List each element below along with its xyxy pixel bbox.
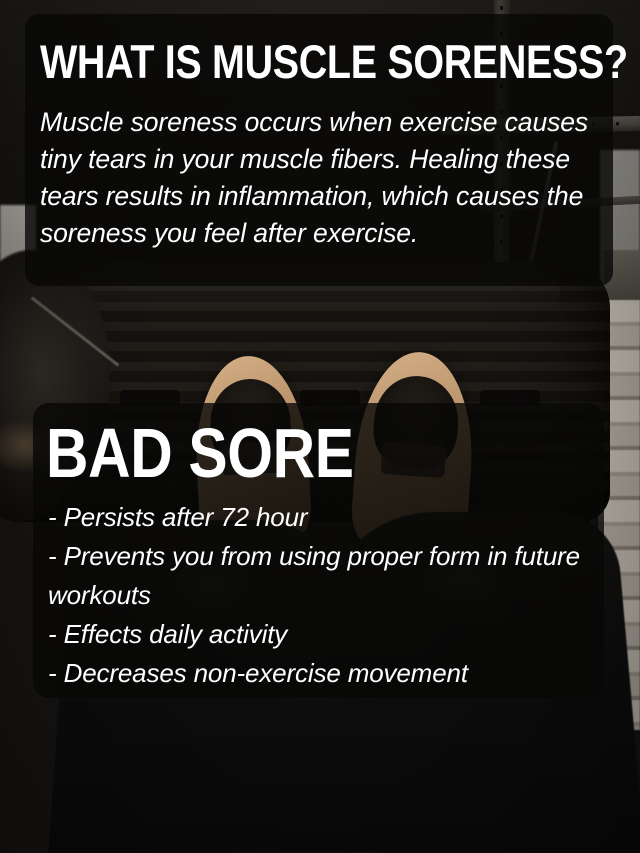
list-item: - Effects daily activity — [48, 615, 596, 654]
bottom-card-heading: BAD SORE — [46, 418, 354, 488]
list-item: - Prevents you from using proper form in… — [48, 537, 596, 615]
list-item: - Decreases non-exercise movement — [48, 654, 596, 693]
top-card-body-text: Muscle soreness occurs when exercise cau… — [40, 104, 596, 252]
list-item: - Persists after 72 hour — [48, 498, 596, 537]
bad-sore-bullet-list: - Persists after 72 hour- Prevents you f… — [48, 498, 596, 693]
page-title: WHAT IS MUSCLE SORENESS? — [40, 38, 628, 85]
poster-root: WHAT IS MUSCLE SORENESS? Muscle soreness… — [0, 0, 640, 853]
